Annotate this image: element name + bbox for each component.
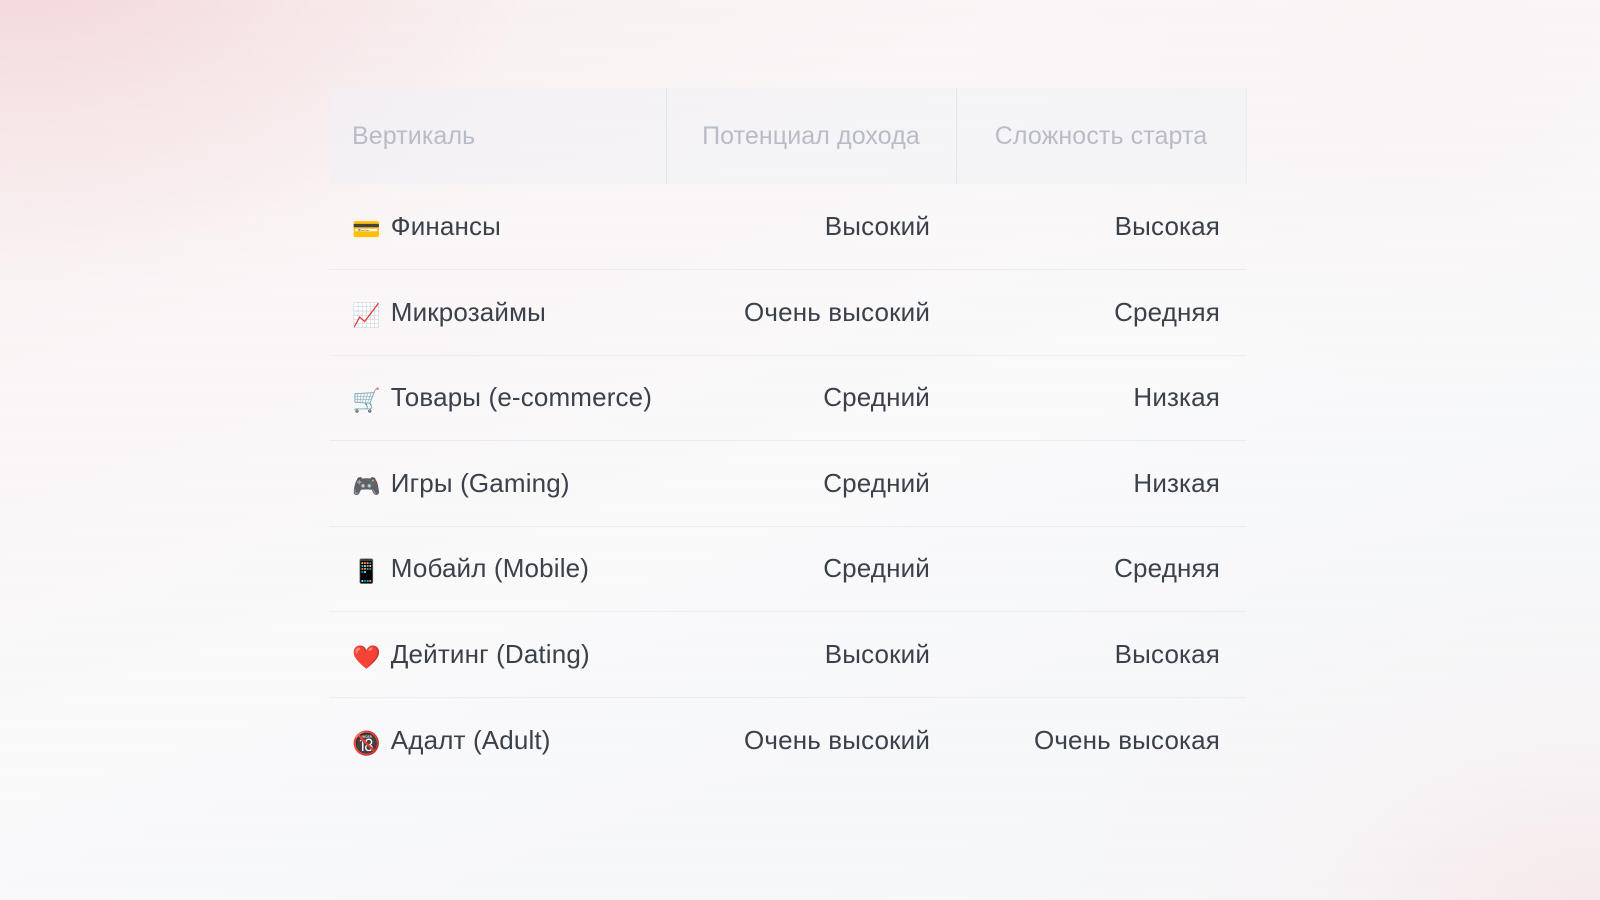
cell-vertical: 💳Финансы bbox=[330, 184, 666, 270]
table-header: Вертикаль Потенциал дохода Сложность ста… bbox=[330, 88, 1246, 184]
table-container: Вертикаль Потенциал дохода Сложность ста… bbox=[330, 88, 1246, 783]
cell-difficulty: Высокая bbox=[956, 612, 1246, 698]
cell-difficulty: Средняя bbox=[956, 270, 1246, 356]
shopping-cart-icon: 🛒 bbox=[352, 390, 381, 413]
table-body: 💳ФинансыВысокийВысокая📈МикрозаймыОчень в… bbox=[330, 184, 1246, 783]
vertical-label: Дейтинг (Dating) bbox=[391, 639, 590, 669]
cell-difficulty: Высокая bbox=[956, 184, 1246, 270]
table-row[interactable]: 🔞Адалт (Adult)Очень высокийОчень высокая bbox=[330, 697, 1246, 783]
cell-vertical: ❤️Дейтинг (Dating) bbox=[330, 612, 666, 698]
cell-vertical: 📈Микрозаймы bbox=[330, 270, 666, 356]
credit-card-icon: 💳 bbox=[352, 219, 381, 242]
table-row[interactable]: 📈МикрозаймыОчень высокийСредняя bbox=[330, 270, 1246, 356]
red-heart-icon: ❤️ bbox=[352, 647, 381, 670]
cell-vertical: 📱Мобайл (Mobile) bbox=[330, 526, 666, 612]
cell-potential: Очень высокий bbox=[666, 697, 956, 783]
table-row[interactable]: 🛒Товары (e-commerce)СреднийНизкая bbox=[330, 355, 1246, 441]
mobile-phone-icon: 📱 bbox=[352, 561, 381, 584]
cell-difficulty: Средняя bbox=[956, 526, 1246, 612]
column-header-vertical[interactable]: Вертикаль bbox=[330, 88, 666, 184]
vertical-label: Финансы bbox=[391, 211, 501, 241]
vertical-label: Мобайл (Mobile) bbox=[391, 553, 589, 583]
column-header-potential[interactable]: Потенциал дохода bbox=[666, 88, 956, 184]
cell-vertical: 🛒Товары (e-commerce) bbox=[330, 355, 666, 441]
vertical-label: Микрозаймы bbox=[391, 297, 546, 327]
cell-potential: Средний bbox=[666, 526, 956, 612]
column-header-difficulty[interactable]: Сложность старта bbox=[956, 88, 1246, 184]
vertical-label: Игры (Gaming) bbox=[391, 468, 570, 498]
cell-potential: Средний bbox=[666, 441, 956, 527]
game-controller-icon: 🎮 bbox=[352, 476, 381, 499]
verticals-comparison-table: Вертикаль Потенциал дохода Сложность ста… bbox=[330, 88, 1247, 783]
vertical-label: Адалт (Adult) bbox=[391, 725, 551, 755]
cell-potential: Высокий bbox=[666, 612, 956, 698]
table-row[interactable]: ❤️Дейтинг (Dating)ВысокийВысокая bbox=[330, 612, 1246, 698]
chart-increasing-icon: 📈 bbox=[352, 305, 381, 328]
cell-potential: Средний bbox=[666, 355, 956, 441]
table-header-row: Вертикаль Потенциал дохода Сложность ста… bbox=[330, 88, 1246, 184]
cell-potential: Высокий bbox=[666, 184, 956, 270]
table-row[interactable]: 💳ФинансыВысокийВысокая bbox=[330, 184, 1246, 270]
cell-vertical: 🎮Игры (Gaming) bbox=[330, 441, 666, 527]
vertical-label: Товары (e-commerce) bbox=[391, 382, 652, 412]
cell-potential: Очень высокий bbox=[666, 270, 956, 356]
cell-difficulty: Низкая bbox=[956, 441, 1246, 527]
no-one-under-eighteen-icon: 🔞 bbox=[352, 733, 381, 756]
table-row[interactable]: 📱Мобайл (Mobile)СреднийСредняя bbox=[330, 526, 1246, 612]
table-row[interactable]: 🎮Игры (Gaming)СреднийНизкая bbox=[330, 441, 1246, 527]
cell-vertical: 🔞Адалт (Adult) bbox=[330, 697, 666, 783]
cell-difficulty: Очень высокая bbox=[956, 697, 1246, 783]
cell-difficulty: Низкая bbox=[956, 355, 1246, 441]
